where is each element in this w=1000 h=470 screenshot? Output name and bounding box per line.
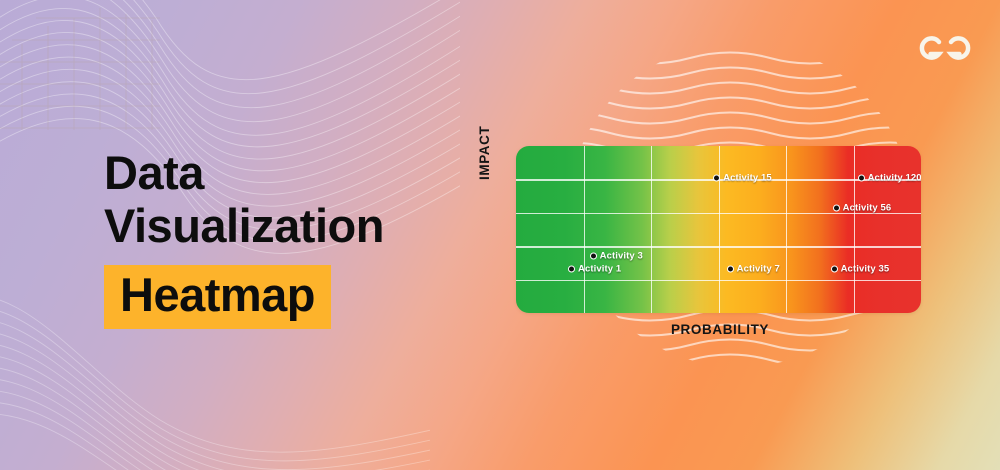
geeksforgeeks-logo[interactable] <box>912 28 978 68</box>
point-label: Activity 7 <box>737 263 780 274</box>
point-marker-icon <box>833 204 840 211</box>
point-label: Activity 120 <box>868 173 921 184</box>
title-line-3: Heatmap <box>120 270 315 320</box>
point-marker-icon <box>858 175 865 182</box>
heatmap-point[interactable]: Activity 1 <box>568 263 621 274</box>
x-axis-label: PROBABILITY <box>585 322 855 337</box>
page-title: Data Visualization <box>104 146 504 252</box>
point-marker-icon <box>568 265 575 272</box>
point-marker-icon <box>713 175 720 182</box>
heatmap-point[interactable]: Activity 15 <box>713 173 772 184</box>
grid-line-vertical <box>854 146 855 313</box>
grid-line-vertical <box>651 146 652 313</box>
point-label: Activity 56 <box>843 202 892 213</box>
point-marker-icon <box>831 265 838 272</box>
point-label: Activity 35 <box>841 263 890 274</box>
heatmap-plot-area[interactable]: Activity 1Activity 3Activity 7Activity 1… <box>516 146 921 313</box>
heatmap-point[interactable]: Activity 3 <box>590 250 643 261</box>
title-line-1: Data <box>104 146 504 199</box>
heatmap-point[interactable]: Activity 56 <box>833 202 892 213</box>
title-line-2: Visualization <box>104 199 504 252</box>
heatmap-point[interactable]: Activity 120 <box>858 173 921 184</box>
heatmap-point[interactable]: Activity 7 <box>727 263 780 274</box>
grid-line-vertical <box>786 146 787 313</box>
y-axis-label: IMPACT <box>477 126 492 180</box>
point-label: Activity 1 <box>578 263 621 274</box>
grid-line-horizontal <box>516 246 921 247</box>
grid-line-vertical <box>719 146 720 313</box>
grid-line-vertical <box>584 146 585 313</box>
title-highlight-box: Heatmap <box>104 265 331 329</box>
point-label: Activity 3 <box>600 250 643 261</box>
heatmap-chart: IMPACT Activity 1Activity 3Activity 7Act… <box>465 130 945 355</box>
grid-line-horizontal <box>516 280 921 281</box>
heatmap-point[interactable]: Activity 35 <box>831 263 890 274</box>
point-label: Activity 15 <box>723 173 772 184</box>
corner-grid-decoration <box>0 0 160 130</box>
point-marker-icon <box>590 252 597 259</box>
point-marker-icon <box>727 265 734 272</box>
